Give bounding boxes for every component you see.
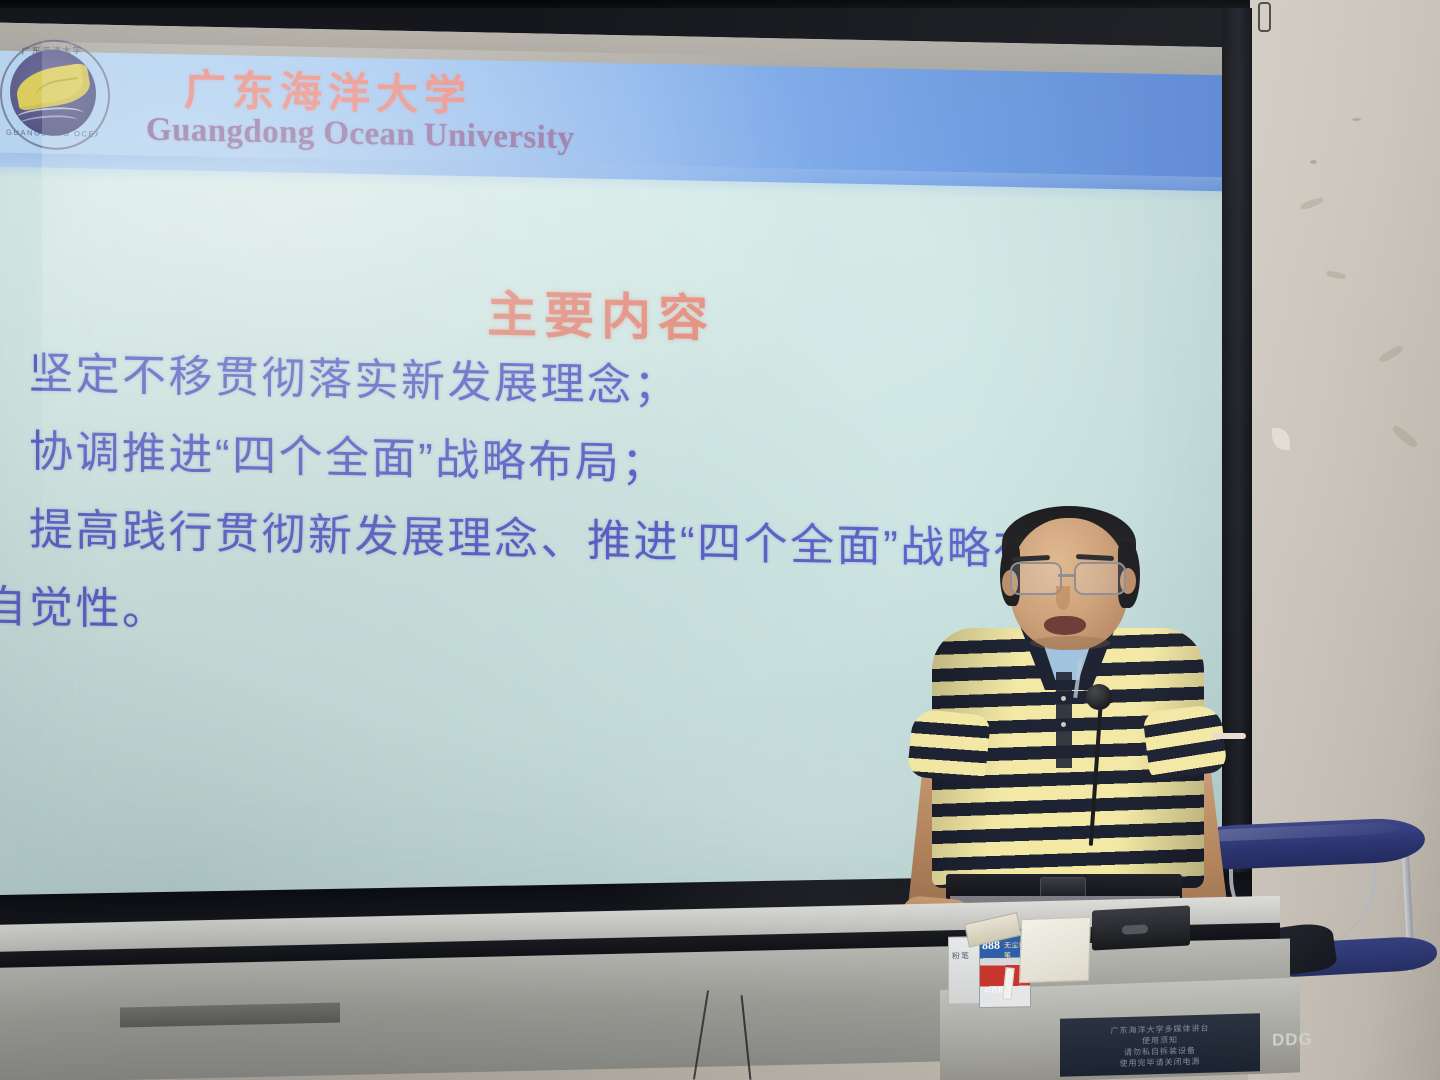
presenter-teeth	[1212, 733, 1246, 739]
presenter-chin-shadow	[1030, 636, 1110, 650]
logo-year-text: 1935	[38, 117, 68, 124]
laptop-badge	[1122, 924, 1148, 934]
presenter-sleeve-left	[907, 708, 992, 784]
microphone-icon	[1086, 684, 1112, 710]
shirt-button-2	[1061, 722, 1066, 727]
chalk-box-side-text: 粉笔	[952, 950, 970, 961]
chalk-box-side-panel	[948, 936, 982, 1005]
podium-info-plate-text: 广东海洋大学多媒体讲台 使用须知 请勿私自拆装设备 使用完毕请关闭电源	[1070, 1021, 1250, 1070]
chalk-box: 粉笔 888 无尘粉笔 白色粉笔	[948, 931, 1028, 1004]
eyeglass-bridge	[1058, 574, 1076, 577]
loose-papers	[1019, 917, 1091, 984]
presenter-sleeve-right	[1142, 704, 1228, 781]
screen-mount-hook	[1258, 2, 1271, 32]
wall-speck	[1352, 118, 1361, 121]
presenter-mouth	[1044, 616, 1086, 635]
eyeglass-lens-right	[1074, 562, 1126, 595]
wall-speck	[1310, 160, 1317, 164]
eyeglass-lens-left	[1010, 562, 1062, 595]
shirt-button-1	[1061, 696, 1066, 701]
lecture-room-photo: 广东海洋大学 1935 GUANGDONG OCEAN UNIVERSITY 广…	[0, 0, 1440, 1080]
podium-brand-mark: DDG	[1272, 1029, 1313, 1050]
presenter-nose	[1056, 586, 1070, 610]
shirt-placket	[1056, 672, 1072, 768]
university-logo: 广东海洋大学 1935 GUANGDONG OCEAN UNIVERSITY	[0, 33, 112, 157]
logo-arc-bottom-text: GUANGDONG OCEAN UNIVERSITY	[6, 125, 98, 143]
